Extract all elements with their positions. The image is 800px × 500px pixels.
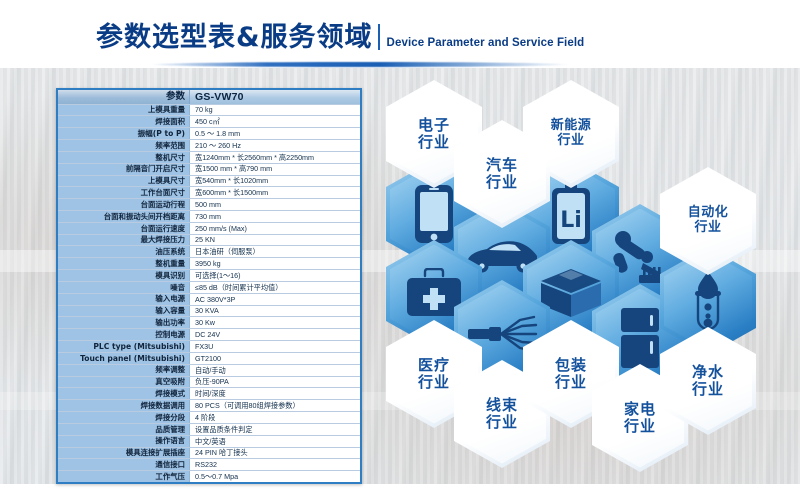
table-row: 焊接分段4 阶段: [58, 411, 360, 423]
table-row: 模具连接扩展插座24 PIN 哈丁接头: [58, 447, 360, 459]
table-row-label: 噪音: [58, 282, 190, 293]
table-header-row: 参数 GS-VW70: [58, 90, 360, 104]
table-row-label: Touch panel (Mitsubishi): [58, 353, 190, 364]
table-row-label: 通信接口: [58, 459, 190, 470]
table-row: 整机尺寸宽1240mm * 长2560mm * 高2250mm: [58, 151, 360, 163]
table-row: 工作台面尺寸宽600mm * 长1500mm: [58, 186, 360, 198]
table-row: 振幅(P to P)0.5 ～ 1.8 mm: [58, 127, 360, 139]
table-row-value: 宽540mm * 长1020mm: [190, 176, 360, 187]
table-row: 噪音≤85 dB（时间累计平均值）: [58, 281, 360, 293]
table-row-value: 24 PIN 哈丁接头: [190, 448, 360, 459]
table-row-value: 500 mm: [190, 199, 360, 210]
table-row: 焊接面积450 c㎡: [58, 115, 360, 127]
hex-label-line1: 自动化: [688, 206, 729, 221]
hex-label-line2: 行业: [555, 374, 587, 391]
table-row-value: ≤85 dB（时间累计平均值）: [190, 282, 360, 293]
table-row-value: 中文/英语: [190, 436, 360, 447]
hex-label-line2: 行业: [624, 418, 656, 435]
table-row-value: 可选择(1～16): [190, 270, 360, 281]
table-row: 品质管理设置品质条件判定: [58, 423, 360, 435]
hex-label-line1: 医疗: [418, 357, 450, 374]
hex-label-line1: 电子: [418, 117, 450, 134]
table-row-value: 自动/手动: [190, 365, 360, 376]
table-row-value: 250 mm/s (Max): [190, 223, 360, 234]
table-row: 台面运动行程500 mm: [58, 198, 360, 210]
industry-hex-grid: 电子行业新能源行业汽车行业自动化行业医疗行业线束行业包装行业家电行业净水行业 L…: [378, 72, 800, 492]
table-row: 焊接模式时间/深度: [58, 387, 360, 399]
table-row: 最大焊接压力25 KN: [58, 234, 360, 246]
table-row-value: 负压-90PA: [190, 377, 360, 388]
table-row-value: 日本油研（伺服泵）: [190, 246, 360, 257]
table-row-label: 台面和振动头间开档距离: [58, 211, 190, 222]
lithium-battery-icon: Li: [549, 183, 593, 245]
table-row: 前隔音门开启尺寸宽1500 mm * 高790 mm: [58, 163, 360, 175]
table-row: 通信接口RS232: [58, 458, 360, 470]
hex-label-line2: 行业: [418, 374, 450, 391]
table-row-label: 振幅(P to P): [58, 128, 190, 139]
table-row: PLC type (Mitsubishi)FX3U: [58, 340, 360, 352]
table-row-label: 工作台面尺寸: [58, 187, 190, 198]
table-row-value: 730 mm: [190, 211, 360, 222]
table-row: 输入容量30 KVA: [58, 305, 360, 317]
table-row: 真空吸附负压-90PA: [58, 376, 360, 388]
table-row: 输出功率30 Kw: [58, 316, 360, 328]
table-row-value: 0.5 ～ 1.8 mm: [190, 128, 360, 139]
table-row-label: 模具识别: [58, 270, 190, 281]
table-row: 台面和振动头间开档距离730 mm: [58, 210, 360, 222]
table-row-value: 4 阶段: [190, 412, 360, 423]
table-row-label: 最大焊接压力: [58, 235, 190, 246]
hex-label-line2: 行业: [486, 174, 518, 191]
table-row-value: 30 Kw: [190, 317, 360, 328]
hex-label-line2: 行业: [692, 381, 724, 398]
table-row-value: DC 24V: [190, 329, 360, 340]
page-header: 参数选型表&服务领域 Device Parameter and Service …: [0, 0, 800, 68]
table-row: 频率范围210 ～ 260 Hz: [58, 139, 360, 151]
hex-inner: 汽车行业: [458, 125, 546, 224]
table-row: 焊接数据调用80 PCS（可调用80组焊接参数）: [58, 399, 360, 411]
table-row-label: 整机尺寸: [58, 152, 190, 163]
table-row-value: 3950 kg: [190, 258, 360, 269]
table-row-label: 模具连接扩展插座: [58, 448, 190, 459]
table-row-label: 台面运行速度: [58, 223, 190, 234]
table-row: 上模具尺寸宽540mm * 长1020mm: [58, 175, 360, 187]
table-row-label: 真空吸附: [58, 377, 190, 388]
table-row: 输入电源AC 380V*3P: [58, 293, 360, 305]
title-wrap: 参数选型表&服务领域 Device Parameter and Service …: [96, 24, 584, 51]
table-row-value: 210 ～ 260 Hz: [190, 140, 360, 151]
water-test-tube-icon: [686, 269, 730, 333]
table-row: 上模具重量70 kg: [58, 104, 360, 116]
table-row: 频率调整自动/手动: [58, 364, 360, 376]
table-row-label: 工作气压: [58, 471, 190, 482]
table-row-label: 上模具重量: [58, 105, 190, 116]
spec-table: 参数 GS-VW70 上模具重量70 kg焊接面积450 c㎡振幅(P to P…: [56, 88, 362, 484]
table-row-label: 频率范围: [58, 140, 190, 151]
table-row: 台面运行速度250 mm/s (Max): [58, 222, 360, 234]
table-row-value: 80 PCS（可调用80组焊接参数）: [190, 400, 360, 411]
refrigerator-icon: [619, 307, 661, 369]
hex-label-line2: 行业: [418, 134, 450, 151]
hex-label-line1: 线束: [486, 397, 518, 414]
table-row-value: FX3U: [190, 341, 360, 352]
table-row-label: 焊接模式: [58, 388, 190, 399]
table-row: 模具识别可选择(1～16): [58, 269, 360, 281]
table-row-label: 输入容量: [58, 306, 190, 317]
hex-label-line1: 新能源: [551, 119, 592, 134]
hex-label-line1: 包装: [555, 357, 587, 374]
hex-label-line1: 净水: [692, 364, 724, 381]
hex-inner: 自动化行业: [664, 172, 752, 271]
table-row-value: 30 KVA: [190, 306, 360, 317]
table-row-value: 450 c㎡: [190, 116, 360, 127]
page-title-cn: 参数选型表&服务领域: [96, 24, 373, 51]
svg-text:Li: Li: [560, 208, 582, 233]
hex-label-line1: 家电: [624, 401, 656, 418]
table-row: 整机重量3950 kg: [58, 257, 360, 269]
table-row: Touch panel (Mitsubishi)GT2100: [58, 352, 360, 364]
table-row-label: 油压系统: [58, 246, 190, 257]
page-title-en: Device Parameter and Service Field: [387, 38, 585, 52]
table-row-value: AC 380V*3P: [190, 294, 360, 305]
table-row: 操作语言中文/英语: [58, 435, 360, 447]
hex-label-line2: 行业: [557, 134, 584, 149]
table-row-value: 宽1500 mm * 高790 mm: [190, 164, 360, 175]
table-row-label: 控制电源: [58, 329, 190, 340]
table-row-label: 焊接分段: [58, 412, 190, 423]
table-row-label: 操作语言: [58, 436, 190, 447]
poster-root: 参数选型表&服务领域 Device Parameter and Service …: [0, 0, 800, 500]
table-header-param: 参数: [58, 90, 190, 104]
table-row: 油压系统日本油研（伺服泵）: [58, 245, 360, 257]
table-row-label: 上模具尺寸: [58, 176, 190, 187]
hex-label-line2: 行业: [486, 414, 518, 431]
table-row-value: RS232: [190, 459, 360, 470]
smartphone-icon: [411, 183, 457, 245]
table-row-value: 时间/深度: [190, 388, 360, 399]
hex-label-line2: 行业: [694, 221, 721, 236]
table-row-value: GT2100: [190, 353, 360, 364]
table-row-label: 整机重量: [58, 258, 190, 269]
table-row-label: 焊接面积: [58, 116, 190, 127]
table-row-label: 前隔音门开启尺寸: [58, 164, 190, 175]
table-row-value: 25 KN: [190, 235, 360, 246]
table-row-label: 输入电源: [58, 294, 190, 305]
title-divider: [378, 24, 380, 50]
table-row: 控制电源DC 24V: [58, 328, 360, 340]
table-row-label: 焊接数据调用: [58, 400, 190, 411]
table-row-label: 台面运动行程: [58, 199, 190, 210]
hex-inner: 净水行业: [664, 332, 752, 431]
title-underline: [150, 62, 570, 67]
table-header-model: GS-VW70: [190, 90, 360, 104]
table-row-label: 频率调整: [58, 365, 190, 376]
table-row-label: 输出功率: [58, 317, 190, 328]
table-row-value: 70 kg: [190, 105, 360, 116]
table-row-value: 宽600mm * 长1500mm: [190, 187, 360, 198]
table-row-value: 设置品质条件判定: [190, 424, 360, 435]
table-row: 工作气压0.5～0.7 Mpa: [58, 470, 360, 482]
hex-label-line1: 汽车: [486, 157, 518, 174]
table-row-value: 0.5～0.7 Mpa: [190, 471, 360, 482]
table-row-value: 宽1240mm * 长2560mm * 高2250mm: [190, 152, 360, 163]
table-row-label: 品质管理: [58, 424, 190, 435]
table-row-label: PLC type (Mitsubishi): [58, 341, 190, 352]
